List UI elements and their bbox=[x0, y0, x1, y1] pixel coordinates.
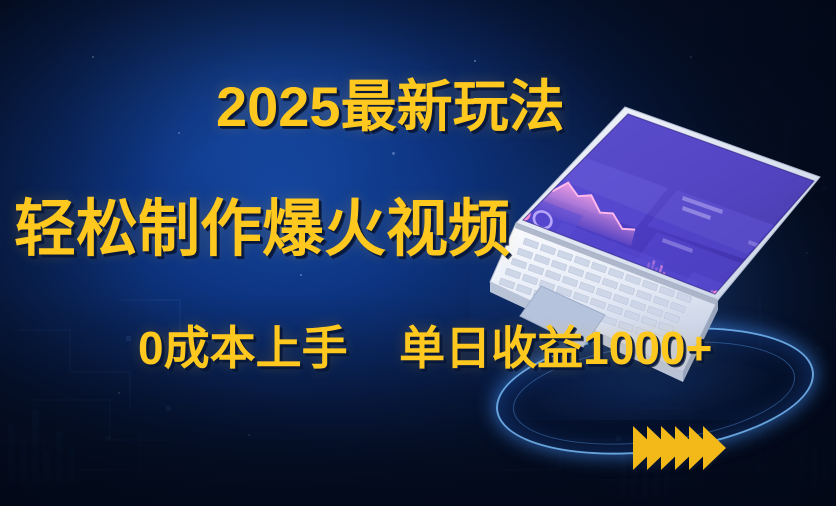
headline-line-1: 2025最新玩法 bbox=[216, 62, 565, 143]
promo-banner: 2025最新玩法 轻松制作爆火视频 0成本上手 单日收益1000+ bbox=[0, 0, 836, 506]
forward-arrows bbox=[633, 426, 717, 470]
headline-line-3: 0成本上手 单日收益1000+ bbox=[138, 312, 712, 378]
chevron-right-icon bbox=[703, 426, 726, 470]
headline-line-3-left: 0成本上手 bbox=[138, 322, 348, 374]
headline-line-2: 轻松制作爆火视频 bbox=[14, 178, 510, 268]
headline-line-3-right: 单日收益1000+ bbox=[399, 322, 712, 374]
